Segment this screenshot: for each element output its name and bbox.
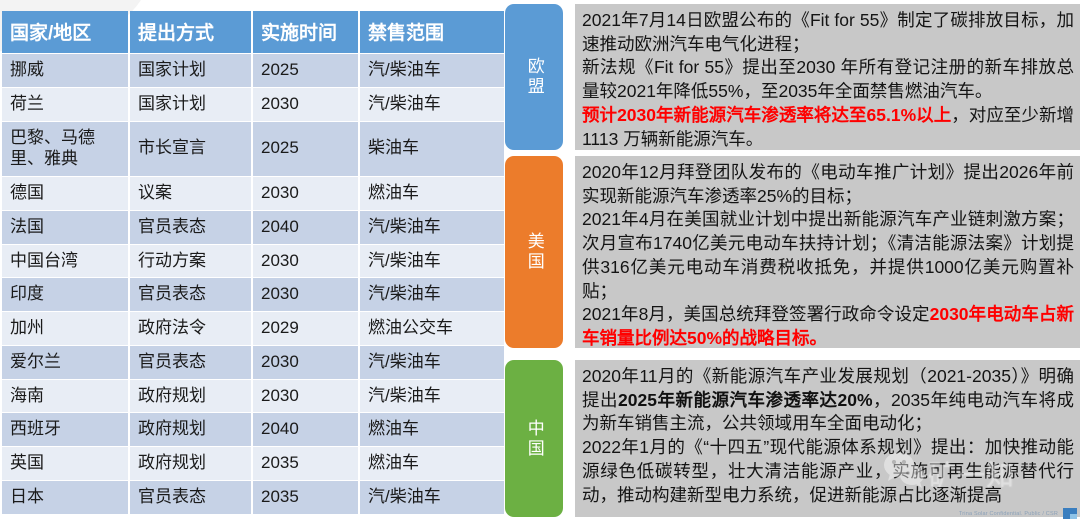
region-panel-us: 美国2020年12月拜登团队发布的《电动车推广计划》提出2026年前实现新能源汽… xyxy=(505,156,1080,348)
cell-year: 2040 xyxy=(253,211,358,244)
table-row: 挪威国家计划2025汽/柴油车 xyxy=(2,54,504,87)
region-tab-cn[interactable]: 中国 xyxy=(505,360,563,517)
cell-scope: 汽/柴油车 xyxy=(360,481,504,514)
cell-region: 中国台湾 xyxy=(2,245,128,278)
cell-method: 政府规划 xyxy=(130,447,251,480)
table-row: 海南政府规划2030汽/柴油车 xyxy=(2,380,504,413)
cell-year: 2030 xyxy=(253,278,358,311)
region-paragraph: 2021年7月14日欧盟公布的《Fit for 55》制定了碳排放目标，加速推动… xyxy=(582,9,1074,150)
cell-scope: 燃油车 xyxy=(360,447,504,480)
cell-scope: 柴油车 xyxy=(360,122,504,177)
cell-region: 日本 xyxy=(2,481,128,514)
text-segment: 2021年7月14日欧盟公布的《Fit for 55》制定了碳排放目标，加速推动… xyxy=(582,10,1074,54)
cell-scope: 汽/柴油车 xyxy=(360,278,504,311)
cell-method: 市长宣言 xyxy=(130,122,251,177)
cell-region: 荷兰 xyxy=(2,88,128,121)
cell-year: 2025 xyxy=(253,54,358,87)
cell-year: 2025 xyxy=(253,122,358,177)
region-tab-label: 中国 xyxy=(524,419,544,459)
cell-region: 西班牙 xyxy=(2,413,128,446)
column-header-year: 实施时间 xyxy=(253,11,358,53)
cell-year: 2035 xyxy=(253,481,358,514)
cell-region: 印度 xyxy=(2,278,128,311)
cell-region: 海南 xyxy=(2,380,128,413)
region-panel-eu: 欧盟2021年7月14日欧盟公布的《Fit for 55》制定了碳排放目标，加速… xyxy=(505,4,1080,150)
cell-method: 国家计划 xyxy=(130,54,251,87)
region-text-eu: 2021年7月14日欧盟公布的《Fit for 55》制定了碳排放目标，加速推动… xyxy=(575,4,1080,150)
cell-year: 2030 xyxy=(253,380,358,413)
column-header-scope: 禁售范围 xyxy=(360,11,504,53)
cell-method: 官员表态 xyxy=(130,278,251,311)
cell-scope: 汽/柴油车 xyxy=(360,88,504,121)
table-row: 日本官员表态2035汽/柴油车 xyxy=(2,481,504,514)
column-header-method: 提出方式 xyxy=(130,11,251,53)
slide-canvas: 国家/地区 提出方式 实施时间 禁售范围 挪威国家计划2025汽/柴油车荷兰国家… xyxy=(0,0,1080,521)
cell-region: 德国 xyxy=(2,177,128,210)
table-row: 巴黎、马德里、雅典市长宣言2025柴油车 xyxy=(2,122,504,177)
region-panel-cn: 中国2020年11月的《新能源汽车产业发展规划（2021-2035）》明确提出2… xyxy=(505,360,1080,517)
text-segment: 2021年8月，美国总统拜登签署行政命令设定 xyxy=(582,304,930,324)
policy-table-container: 国家/地区 提出方式 实施时间 禁售范围 挪威国家计划2025汽/柴油车荷兰国家… xyxy=(0,10,498,515)
region-paragraph: 2020年12月拜登团队发布的《电动车推广计划》提出2026年前实现新能源汽车渗… xyxy=(582,161,1074,348)
table-header: 国家/地区 提出方式 实施时间 禁售范围 xyxy=(2,11,504,53)
cell-region: 爱尔兰 xyxy=(2,346,128,379)
text-segment: 预计2030年新能源汽车渗透率将达至65.1%以上 xyxy=(582,105,951,125)
cell-method: 行动方案 xyxy=(130,245,251,278)
region-tab-us[interactable]: 美国 xyxy=(505,156,563,348)
region-text-us: 2020年12月拜登团队发布的《电动车推广计划》提出2026年前实现新能源汽车渗… xyxy=(575,156,1080,348)
table-row: 法国官员表态2040汽/柴油车 xyxy=(2,211,504,244)
footer-confidentiality-note: Trina Solar Confidential. Public / CSR xyxy=(959,511,1058,517)
cell-year: 2030 xyxy=(253,346,358,379)
table-row: 荷兰国家计划2030汽/柴油车 xyxy=(2,88,504,121)
cell-scope: 汽/柴油车 xyxy=(360,245,504,278)
table-row: 德国议案2030燃油车 xyxy=(2,177,504,210)
cell-method: 政府法令 xyxy=(130,312,251,345)
cell-scope: 燃油车 xyxy=(360,413,504,446)
cell-method: 国家计划 xyxy=(130,88,251,121)
cell-region: 巴黎、马德里、雅典 xyxy=(2,122,128,177)
cell-scope: 燃油车 xyxy=(360,177,504,210)
cell-method: 议案 xyxy=(130,177,251,210)
region-text-cn: 2020年11月的《新能源汽车产业发展规划（2021-2035）》明确提出202… xyxy=(575,360,1080,517)
region-tab-eu[interactable]: 欧盟 xyxy=(505,4,563,150)
cell-region: 挪威 xyxy=(2,54,128,87)
table-row: 印度官员表态2030汽/柴油车 xyxy=(2,278,504,311)
table-row: 中国台湾行动方案2030汽/柴油车 xyxy=(2,245,504,278)
cell-scope: 汽/柴油车 xyxy=(360,380,504,413)
cell-year: 2030 xyxy=(253,245,358,278)
cell-method: 官员表态 xyxy=(130,481,251,514)
cell-scope: 汽/柴油车 xyxy=(360,211,504,244)
cell-method: 官员表态 xyxy=(130,211,251,244)
region-tab-label: 美国 xyxy=(524,232,544,272)
table-body: 挪威国家计划2025汽/柴油车荷兰国家计划2030汽/柴油车巴黎、马德里、雅典市… xyxy=(2,54,504,514)
text-segment: 2022年1月的《“十四五”现代能源体系规划》提出：加快推动能源绿色低碳转型，壮… xyxy=(582,437,1074,504)
table-row: 爱尔兰官员表态2030汽/柴油车 xyxy=(2,346,504,379)
cell-method: 官员表态 xyxy=(130,346,251,379)
cell-method: 政府规划 xyxy=(130,413,251,446)
cell-year: 2030 xyxy=(253,88,358,121)
fuel-ban-policy-table: 国家/地区 提出方式 实施时间 禁售范围 挪威国家计划2025汽/柴油车荷兰国家… xyxy=(0,10,506,515)
text-segment: 2025年新能源汽车渗透率达20% xyxy=(618,390,873,410)
text-segment: 2020年12月拜登团队发布的《电动车推广计划》提出2026年前实现新能源汽车渗… xyxy=(582,162,1074,206)
table-row: 西班牙政府规划2040燃油车 xyxy=(2,413,504,446)
cell-year: 2040 xyxy=(253,413,358,446)
cell-method: 政府规划 xyxy=(130,380,251,413)
region-panels-container: 欧盟2021年7月14日欧盟公布的《Fit for 55》制定了碳排放目标，加速… xyxy=(505,0,1080,521)
text-segment: 2021年4月在美国就业计划中提出新能源汽车产业链刺激方案；次月宣布1740亿美… xyxy=(582,209,1074,300)
column-header-region: 国家/地区 xyxy=(2,11,128,53)
region-tab-label: 欧盟 xyxy=(524,57,544,97)
cell-scope: 汽/柴油车 xyxy=(360,346,504,379)
region-paragraph: 2020年11月的《新能源汽车产业发展规划（2021-2035）》明确提出202… xyxy=(582,365,1074,507)
cell-year: 2030 xyxy=(253,177,358,210)
text-segment: 新法规《Fit for 55》提出至2030 年所有登记注册的新车排放总量较20… xyxy=(582,57,1074,101)
table-header-row: 国家/地区 提出方式 实施时间 禁售范围 xyxy=(2,11,504,53)
cell-region: 法国 xyxy=(2,211,128,244)
footer-logo-mark xyxy=(1063,508,1077,519)
cell-year: 2035 xyxy=(253,447,358,480)
cell-scope: 汽/柴油车 xyxy=(360,54,504,87)
table-row: 加州政府法令2029燃油公交车 xyxy=(2,312,504,345)
cell-region: 英国 xyxy=(2,447,128,480)
table-row: 英国政府规划2035燃油车 xyxy=(2,447,504,480)
cell-year: 2029 xyxy=(253,312,358,345)
cell-scope: 燃油公交车 xyxy=(360,312,504,345)
cell-region: 加州 xyxy=(2,312,128,345)
